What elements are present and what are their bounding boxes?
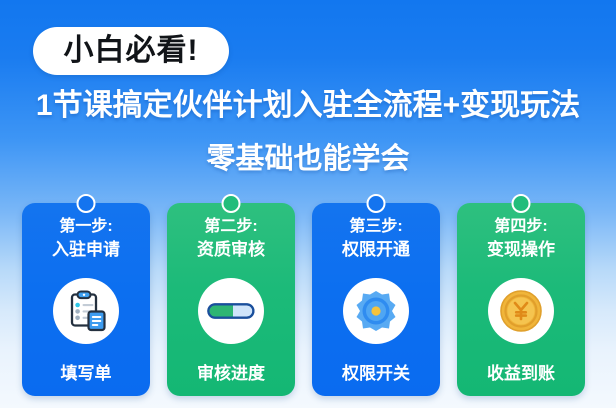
step-footer-1: 填写单 — [22, 365, 150, 382]
subheadline-text: 零基础也能学会 — [0, 142, 616, 176]
step-title-3: 权限开通 — [342, 239, 410, 260]
step-label-3: 第三步: — [349, 217, 402, 237]
step-label-2: 第二步: — [204, 217, 257, 237]
step-footer-4: 收益到账 — [457, 365, 585, 382]
step-marker-dot-2 — [222, 194, 241, 213]
step-title-4: 变现操作 — [487, 239, 555, 260]
step-card-1[interactable]: 第一步: 入驻申请 填写单 — [22, 203, 150, 396]
yen-coin-icon — [488, 278, 554, 344]
step-label-1: 第一步: — [59, 217, 112, 237]
clipboard-form-icon — [53, 278, 119, 344]
step-card-4[interactable]: 第四步: 变现操作 收益到账 — [457, 203, 585, 396]
step-marker-dot-4 — [512, 194, 531, 213]
highlight-badge-label: 小白必看! — [64, 36, 199, 66]
step-card-3[interactable]: 第三步: 权限开通 权限开关 — [312, 203, 440, 396]
step-marker-dot-3 — [367, 194, 386, 213]
step-title-2: 资质审核 — [197, 239, 265, 260]
step-footer-3: 权限开关 — [312, 365, 440, 382]
steps-row: 第一步: 入驻申请 填写单 — [22, 203, 594, 396]
progress-bar-icon — [198, 278, 264, 344]
highlight-badge: 小白必看! — [33, 27, 229, 75]
promo-poster: 小白必看! 1节课搞定伙伴计划入驻全流程+变现玩法 零基础也能学会 第一步: 入… — [0, 0, 616, 408]
headline-text: 1节课搞定伙伴计划入驻全流程+变现玩法 — [0, 88, 616, 123]
step-footer-2: 审核进度 — [167, 365, 295, 382]
step-marker-dot-1 — [77, 194, 96, 213]
step-title-1: 入驻申请 — [52, 239, 120, 260]
gear-settings-icon — [343, 278, 409, 344]
step-card-2[interactable]: 第二步: 资质审核 审核进度 — [167, 203, 295, 396]
step-label-4: 第四步: — [494, 217, 547, 237]
